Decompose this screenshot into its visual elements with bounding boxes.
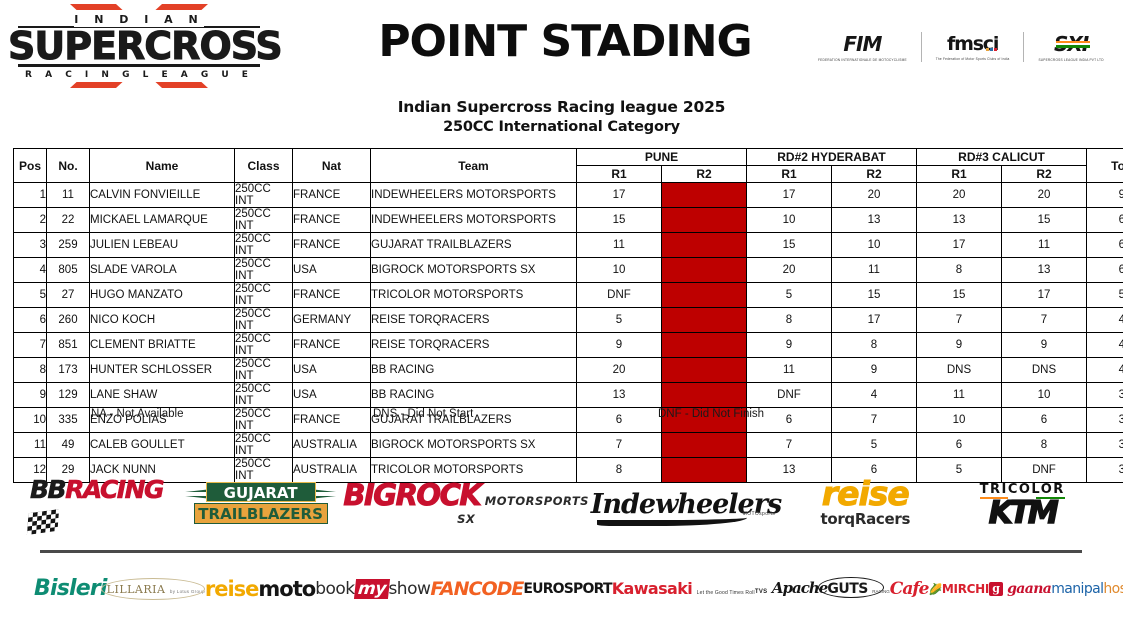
bookmyshow-logo: bookmyshow [315,579,430,599]
reisemoto-logo: reisemoto [205,577,315,601]
col-header-team: Team [371,149,577,183]
col-header-class: Class [235,149,293,183]
cell-no: 173 [47,358,90,383]
cell-hyderabat-r2: 9 [832,358,917,383]
cell-total: 62 [1087,258,1123,283]
cell-nat: GERMANY [293,308,371,333]
bb-racing-logo-racing: RACING [65,475,163,504]
logo-supercross-text: SUPERCROSS [8,29,270,63]
cell-calicut-r2: 20 [1002,183,1087,208]
cell-pune-r1: 17 [577,183,662,208]
cell-pune-r2 [662,258,747,283]
sponsor-bookmyshow: bookmyshow [315,569,430,609]
cell-name: SLADE VAROLA [90,258,235,283]
cell-calicut-r1: 9 [917,333,1002,358]
cell-name: LANE SHAW [90,383,235,408]
table-row: 527HUGO MANZATO250CC INTFRANCETRICOLOR M… [14,283,1123,308]
cell-total: 52 [1087,283,1123,308]
lillaria-logo: LILLARIA by Lotus Group [107,580,205,598]
cell-no: 11 [47,183,90,208]
cell-hyderabat-r2: 15 [832,283,917,308]
col-header-cal-r2: R2 [1002,166,1087,183]
cell-nat: AUSTRALIA [293,433,371,458]
cell-team: BIGROCK MOTORSPORTS SX [371,433,577,458]
event-category: 250CC International Category [0,119,1123,135]
cell-class: 250CC INT [235,433,293,458]
cell-hyderabat-r1: 10 [747,208,832,233]
bisleri-logo-text: Bisleri [34,576,107,601]
legend-dnf: DNF - Did Not Finish [658,408,764,420]
cell-class: 250CC INT [235,258,293,283]
cell-name: HUNTER SCHLOSSER [90,358,235,383]
cell-team: TRICOLOR MOTORSPORTS [371,283,577,308]
cell-class: 250CC INT [235,208,293,233]
table-row: 6260NICO KOCH250CC INTGERMANYREISE TORQR… [14,308,1123,333]
cell-pos: 9 [14,383,47,408]
table-head: Pos No. Name Class Nat Team PUNE RD#2 HY… [14,149,1123,183]
bb-racing-logo: BBRACING [30,475,180,533]
bigrock-logo-main: BIGROCK [343,478,480,512]
cell-pune-r2 [662,358,747,383]
cell-name: NICO KOCH [90,308,235,333]
cell-calicut-r2: 8 [1002,433,1087,458]
team-logo-gujarat-trailblazers: GUJARAT TRAILBLAZERS [180,473,342,535]
bookmyshow-logo-pre: book [315,579,354,599]
cell-nat: FRANCE [293,208,371,233]
table-row: 4805SLADE VAROLA250CC INTUSABIGROCK MOTO… [14,258,1123,283]
cell-team: INDEWHEELERS MOTORSPORTS [371,208,577,233]
cell-nat: FRANCE [293,283,371,308]
gaana-logo-text: gaana [1007,581,1051,597]
cell-hyderabat-r1: 15 [747,233,832,258]
cell-no: 851 [47,333,90,358]
tricolor-ktm-logo: TRICOLOR KTM [949,480,1095,528]
fim-logo-text: FIM [843,32,881,56]
reisemoto-logo-b: moto [258,577,315,601]
cell-pune-r1: 13 [577,383,662,408]
cell-nat: FRANCE [293,233,371,258]
guts-logo: GUTS RACING [827,580,889,598]
page-header: I N D I A N SUPERCROSS R A C I N G L E A… [0,0,1123,92]
team-logo-reise-torqracers: reise torqRacers [781,473,949,535]
sponsor-bisleri: Bisleri [34,569,107,609]
cell-team: GUJARAT TRAILBLAZERS [371,233,577,258]
team-logo-indewheelers: Indewheelers MOTOsports [591,473,781,535]
radio-mirchi-logo: 🌽MIRCHI [928,582,989,596]
bb-racing-logo-bb: BB [30,475,65,504]
cell-pos: 1 [14,183,47,208]
federation-logos: FIM FEDERATION INTERNATIONALE DE MOTOCYC… [818,24,1108,70]
table-row: 1149CALEB GOULLET250CC INTAUSTRALIABIGRO… [14,433,1123,458]
cell-hyderabat-r2: 4 [832,383,917,408]
cell-total: 64 [1087,233,1123,258]
team-logo-bb-racing: BBRACING [30,473,180,535]
tvs-logo-pre: TVS [755,589,768,595]
section-divider [40,550,1082,553]
cell-nat: FRANCE [293,333,371,358]
cell-calicut-r2: 11 [1002,233,1087,258]
chili-leaf-icon: 🌽 [928,583,941,596]
cell-team: BIGROCK MOTORSPORTS SX [371,258,577,283]
mirchi-logo-text: MIRCHI [942,582,989,596]
cell-no: 259 [47,233,90,258]
ktm-logo-main: KTM [989,495,1056,531]
gujarat-trailblazers-logo: GUJARAT TRAILBLAZERS [180,479,342,529]
fmsci-dots-icon [986,34,1000,40]
sponsor-tvs-apache: TVS Apache [755,569,827,609]
cell-no: 129 [47,383,90,408]
cell-hyderabat-r2: 5 [832,433,917,458]
cell-calicut-r2: 15 [1002,208,1087,233]
table-row: 3259JULIEN LEBEAU250CC INTFRANCEGUJARAT … [14,233,1123,258]
team-logo-tricolor-ktm: TRICOLOR KTM [949,473,1095,535]
cell-calicut-r1: DNS [917,358,1002,383]
lillaria-oval-icon [101,578,205,600]
cell-class: 250CC INT [235,358,293,383]
cell-hyderabat-r1: 20 [747,258,832,283]
fmsci-logo-subtext: The Federation of Motor Sports Clubs of … [936,57,1010,61]
cell-hyderabat-r1: 5 [747,283,832,308]
guts-ring-icon [818,577,884,598]
manipal-logo-b: hospitals [1103,581,1123,597]
cell-no: 260 [47,308,90,333]
col-header-pune-r2: R2 [662,166,747,183]
col-header-hyd-r2: R2 [832,166,917,183]
reise-logo-main: reise [822,474,909,513]
cell-name: CALEB GOULLET [90,433,235,458]
cell-hyderabat-r2: 20 [832,183,917,208]
sponsor-lillaria: LILLARIA by Lotus Group [107,569,205,609]
kawasaki-logo-text: Kawasaki [612,579,692,598]
col-header-pune-r1: R1 [577,166,662,183]
cell-no: 49 [47,433,90,458]
cell-pune-r1: 10 [577,258,662,283]
cell-calicut-r2: 10 [1002,383,1087,408]
cell-hyderabat-r1: 7 [747,433,832,458]
col-header-total: Total [1087,149,1123,183]
cell-pune-r2 [662,233,747,258]
legend: NA - Not Available DNS - Did Not Start D… [13,408,1109,424]
cell-total: 40 [1087,358,1123,383]
cell-pos: 7 [14,333,47,358]
col-header-round-pune: PUNE [577,149,747,166]
fim-logo-subtext: FEDERATION INTERNATIONALE DE MOTOCYCLISM… [818,58,907,62]
cell-hyderabat-r1: 8 [747,308,832,333]
cell-team: INDEWHEELERS MOTORSPORTS [371,183,577,208]
cell-nat: FRANCE [293,183,371,208]
cell-calicut-r1: 6 [917,433,1002,458]
cell-pune-r2 [662,433,747,458]
sponsor-radio-mirchi: 🌽MIRCHI [928,569,989,609]
bigrock-logo: BIGROCK MOTORSPORTS SX [342,481,591,528]
indewheelers-logo: Indewheelers MOTOsports [591,489,781,520]
cell-calicut-r1: 7 [917,308,1002,333]
cell-pune-r1: DNF [577,283,662,308]
cell-pune-r1: 11 [577,233,662,258]
cell-no: 22 [47,208,90,233]
cell-class: 250CC INT [235,233,293,258]
cell-name: CALVIN FONVIEILLE [90,183,235,208]
reise-logo-sub: torqRacers [820,510,910,528]
cell-pos: 4 [14,258,47,283]
gujarat-logo-bottom: TRAILBLAZERS [194,503,328,524]
reise-logo: reise torqRacers [781,479,949,529]
cell-hyderabat-r1: 17 [747,183,832,208]
gujarat-logo-top: GUJARAT [206,482,316,502]
cell-pune-r1: 7 [577,433,662,458]
checkered-flag-icon [27,509,59,535]
indewheelers-swoosh-icon [597,512,747,526]
page-title: POINT STADING [330,16,800,67]
cell-pune-r2 [662,383,747,408]
logo-divider-2 [1023,32,1024,62]
cell-class: 250CC INT [235,333,293,358]
reisemoto-logo-a: reise [205,577,259,601]
cell-name: JULIEN LEBEAU [90,233,235,258]
sponsor-cafe: Cafe [890,569,929,609]
sponsor-guts: GUTS RACING [827,569,889,609]
table-row: 222MICKAEL LAMARQUE250CC INTFRANCEINDEWH… [14,208,1123,233]
tricolor-logo-top: TRICOLOR [980,482,1065,497]
logo-league-text: R A C I N G L E A G U E [8,70,270,80]
cell-name: CLEMENT BRIATTE [90,333,235,358]
cell-calicut-r1: 17 [917,233,1002,258]
cell-pune-r2 [662,308,747,333]
cell-calicut-r2: 13 [1002,258,1087,283]
cell-pos: 8 [14,358,47,383]
cell-pos: 2 [14,208,47,233]
point-standings-page: I N D I A N SUPERCROSS R A C I N G L E A… [0,0,1123,621]
kawasaki-logo-sub: Let the Good Times Roll [697,590,755,596]
cell-nat: USA [293,258,371,283]
cell-total: 44 [1087,333,1123,358]
cell-pune-r1: 15 [577,208,662,233]
sxi-logo-subtext: SUPERCROSS LEAGUE INDIA PVT LTD [1038,58,1103,62]
team-logos-row: BBRACING GUJARAT TRAILBLAZERS BIGROCK MO… [30,470,1095,538]
cell-team: REISE TORQRACERS [371,308,577,333]
cell-pune-r2 [662,333,747,358]
standings-table-wrapper: Pos No. Name Class Nat Team PUNE RD#2 HY… [13,148,1109,483]
cell-hyderabat-r2: 13 [832,208,917,233]
fim-logo: FIM FEDERATION INTERNATIONALE DE MOTOCYC… [818,32,907,62]
sponsor-strip: Bisleri LILLARIA by Lotus Group reisemot… [34,566,1094,611]
cell-nat: USA [293,383,371,408]
kawasaki-logo: Kawasaki Let the Good Times Roll [612,579,755,599]
cafe-logo-text: Cafe [890,579,929,599]
cell-total: 66 [1087,208,1123,233]
tricolor-band-icon [980,497,1065,500]
table-row: 111CALVIN FONVIEILLE250CC INTFRANCEINDEW… [14,183,1123,208]
cell-calicut-r1: 20 [917,183,1002,208]
bookmyshow-logo-post: show [388,579,430,599]
col-header-round-hyderabat: RD#2 HYDERABAT [747,149,917,166]
tricolor-logo-word: TRICOLOR [980,482,1065,497]
cell-pos: 5 [14,283,47,308]
bookmyshow-logo-mid: my [354,579,390,599]
cell-name: HUGO MANZATO [90,283,235,308]
fmsci-logo-text: fmsci [947,33,998,55]
table-row: 7851CLEMENT BRIATTE250CC INTFRANCEREISE … [14,333,1123,358]
cell-no: 805 [47,258,90,283]
sponsor-fancode: FANCODE [430,569,523,609]
col-header-cal-r1: R1 [917,166,1002,183]
sponsor-reisemoto: reisemoto [205,569,315,609]
col-header-name: Name [90,149,235,183]
gaana-badge-icon: g [989,582,1003,596]
cell-hyderabat-r1: 9 [747,333,832,358]
cell-pune-r2 [662,283,747,308]
sponsor-eurosport: EUROSPORT [523,569,611,609]
cell-hyderabat-r2: 17 [832,308,917,333]
sponsor-manipal-hospitals: manipalhospitals Life's On [1051,569,1123,609]
cell-calicut-r1: 15 [917,283,1002,308]
cell-class: 250CC INT [235,383,293,408]
cell-total: 38 [1087,383,1123,408]
cell-hyderabat-r2: 8 [832,333,917,358]
manipal-logo-text: manipalhospitals [1051,581,1123,597]
table-body: 111CALVIN FONVIEILLE250CC INTFRANCEINDEW… [14,183,1123,483]
legend-na: NA - Not Available [91,408,183,420]
cell-calicut-r2: 17 [1002,283,1087,308]
tvs-apache-logo: TVS Apache [755,579,827,598]
cell-class: 250CC INT [235,283,293,308]
sponsor-kawasaki: Kawasaki Let the Good Times Roll [612,569,755,609]
logo-divider [921,32,922,62]
eurosport-logo-text: EUROSPORT [523,581,611,597]
table-row: 9129LANE SHAW250CC INTUSABB RACING13DNF4… [14,383,1123,408]
cell-hyderabat-r1: DNF [747,383,832,408]
cell-total: 44 [1087,308,1123,333]
cell-nat: USA [293,358,371,383]
manipal-logo: manipalhospitals Life's On [1051,580,1123,598]
cell-calicut-r1: 11 [917,383,1002,408]
cell-pos: 11 [14,433,47,458]
legend-dns: DNS - Did Not Start [373,408,473,420]
table-row: 8173HUNTER SCHLOSSER250CC INTUSABB RACIN… [14,358,1123,383]
manipal-logo-a: manipal [1051,581,1103,597]
cell-team: BB RACING [371,358,577,383]
col-header-pos: Pos [14,149,47,183]
cell-class: 250CC INT [235,308,293,333]
cell-pune-r2 [662,183,747,208]
cell-total: 94 [1087,183,1123,208]
cell-pune-r1: 5 [577,308,662,333]
col-header-hyd-r1: R1 [747,166,832,183]
cell-calicut-r1: 8 [917,258,1002,283]
standings-table: Pos No. Name Class Nat Team PUNE RD#2 HY… [13,148,1123,483]
sxi-logo-text: SXI [1054,32,1088,56]
indian-supercross-league-logo: I N D I A N SUPERCROSS R A C I N G L E A… [8,4,270,88]
cell-hyderabat-r2: 11 [832,258,917,283]
cell-hyderabat-r2: 10 [832,233,917,258]
cell-pune-r2 [662,208,747,233]
cell-no: 27 [47,283,90,308]
cell-name: MICKAEL LAMARQUE [90,208,235,233]
cell-pune-r1: 9 [577,333,662,358]
cell-pos: 6 [14,308,47,333]
col-header-no: No. [47,149,90,183]
table-group-header-row: Pos No. Name Class Nat Team PUNE RD#2 HY… [14,149,1123,166]
cell-class: 250CC INT [235,183,293,208]
sxi-logo: SXI SUPERCROSS LEAGUE INDIA PVT LTD [1038,32,1103,62]
cell-hyderabat-r1: 11 [747,358,832,383]
fmsci-logo: fmsci The Federation of Motor Sports Clu… [936,33,1010,61]
col-header-nat: Nat [293,149,371,183]
cell-team: REISE TORQRACERS [371,333,577,358]
cell-calicut-r2: 9 [1002,333,1087,358]
event-subtitle: Indian Supercross Racing league 2025 250… [0,98,1123,135]
event-name: Indian Supercross Racing league 2025 [0,98,1123,116]
sxi-tricolor-icon [1056,41,1090,48]
cell-calicut-r2: 7 [1002,308,1087,333]
col-header-round-calicut: RD#3 CALICUT [917,149,1087,166]
cell-total: 33 [1087,433,1123,458]
cell-calicut-r2: DNS [1002,358,1087,383]
gaana-logo: g gaana [989,581,1051,597]
fancode-logo-text: FANCODE [430,578,523,600]
cell-pos: 3 [14,233,47,258]
sponsor-gaana: g gaana [989,569,1051,609]
cell-pune-r1: 20 [577,358,662,383]
indewheelers-logo-sub: MOTOsports [743,511,776,517]
team-logo-bigrock: BIGROCK MOTORSPORTS SX [342,473,591,535]
cell-calicut-r1: 13 [917,208,1002,233]
cell-team: BB RACING [371,383,577,408]
